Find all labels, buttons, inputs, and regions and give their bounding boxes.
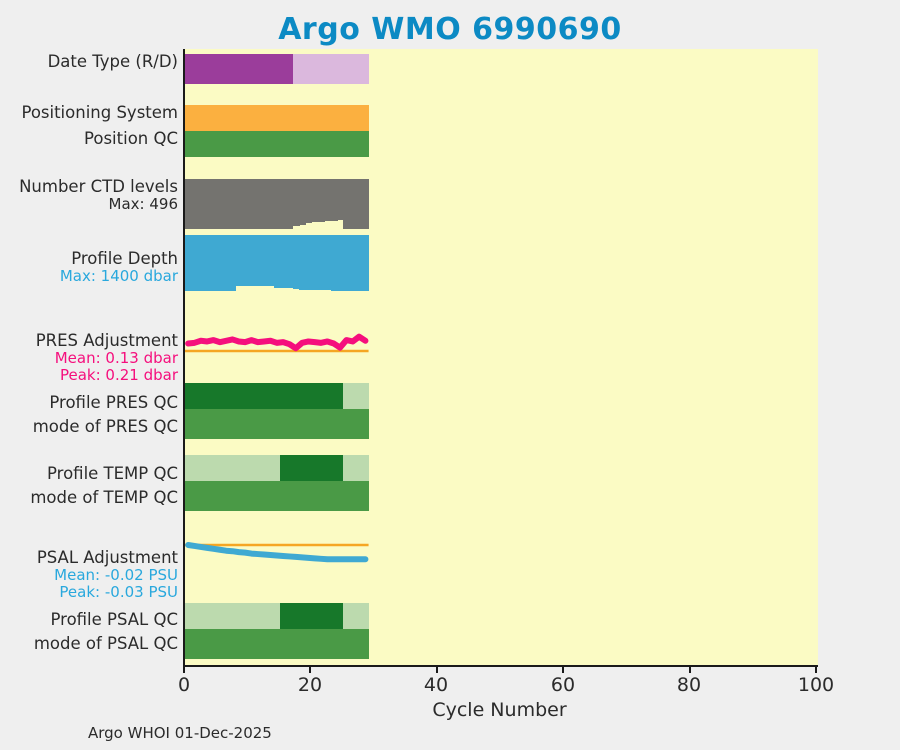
xtick-label-80: 80 <box>654 674 724 696</box>
panel-pres-adjustment <box>185 319 818 361</box>
panel-positioning-system <box>185 105 818 131</box>
segment-1 <box>185 629 369 659</box>
xtick-mark-60 <box>562 665 564 673</box>
line-chart <box>185 319 818 361</box>
ylabel-psal-adj-mean: Mean: -0.02 PSU <box>37 567 178 584</box>
ylabel-mode-psal-qc: mode of PSAL QC <box>34 635 178 653</box>
ylabel-pres-adj-peak: Peak: 0.21 dbar <box>36 367 178 384</box>
ylabel-profile-psal-qc-text: Profile PSAL QC <box>50 610 178 629</box>
panel-mode-of-psal-qc <box>185 629 818 659</box>
xtick-label-0: 0 <box>149 674 219 696</box>
line-chart <box>185 539 818 581</box>
xtick-label-100: 100 <box>781 674 851 696</box>
segment-A <box>280 455 343 481</box>
panel-number-ctd-levels <box>185 179 818 229</box>
ylabel-pres-adj-text: PRES Adjustment <box>36 331 178 350</box>
segment-B <box>343 603 368 629</box>
data-line <box>188 337 365 349</box>
ylabel-mode-pres-qc-text: mode of PRES QC <box>33 417 178 436</box>
segment-B <box>185 603 280 629</box>
panel-mode-of-temp-qc <box>185 481 818 511</box>
panel-position-qc <box>185 131 818 157</box>
ylabel-position-qc: Position QC <box>84 130 178 148</box>
ylabel-position-qc-text: Position QC <box>84 129 178 148</box>
ylabel-pos-system: Positioning System <box>21 104 178 122</box>
segment-B <box>185 455 280 481</box>
ylabel-profile-depth: Profile Depth Max: 1400 dbar <box>60 250 178 285</box>
panel-psal-adjustment <box>185 539 818 581</box>
ylabel-psal-adj-peak: Peak: -0.03 PSU <box>37 584 178 601</box>
ylabel-pres-adj-mean: Mean: 0.13 dbar <box>36 350 178 367</box>
ylabel-profile-psal-qc: Profile PSAL QC <box>50 611 178 629</box>
xtick-label-20: 20 <box>275 674 345 696</box>
bar <box>362 235 369 291</box>
x-axis-label: Cycle Number <box>183 699 816 721</box>
plot-inner <box>185 49 818 665</box>
ylabel-mode-psal-qc-text: mode of PSAL QC <box>34 634 178 653</box>
data-line <box>188 545 365 559</box>
bar <box>362 179 369 229</box>
segment-B <box>343 455 368 481</box>
xtick-mark-0 <box>183 665 185 673</box>
ylabel-profile-temp-qc: Profile TEMP QC <box>47 465 178 483</box>
xtick-mark-40 <box>436 665 438 673</box>
panel-profile-psal-qc <box>185 603 818 629</box>
xtick-label-60: 60 <box>528 674 598 696</box>
ylabel-ctd-levels-max: Max: 496 <box>19 196 178 213</box>
ylabel-psal-adj-text: PSAL Adjustment <box>37 548 178 567</box>
ylabel-profile-depth-text: Profile Depth <box>71 249 178 268</box>
ylabel-ctd-levels-text: Number CTD levels <box>19 177 178 196</box>
page-title: Argo WMO 6990690 <box>0 12 900 47</box>
segment-1 <box>185 131 369 157</box>
xtick-label-40: 40 <box>401 674 471 696</box>
ylabel-profile-pres-qc-text: Profile PRES QC <box>49 393 178 412</box>
segment-D <box>293 54 369 84</box>
ylabel-mode-temp-qc: mode of TEMP QC <box>30 489 178 507</box>
plot-area <box>183 49 818 667</box>
panel-profile-pres-qc <box>185 383 818 409</box>
footer-credit: Argo WHOI 01-Dec-2025 <box>88 724 272 742</box>
panel-profile-temp-qc <box>185 455 818 481</box>
ylabel-profile-depth-max: Max: 1400 dbar <box>60 268 178 285</box>
xtick-mark-80 <box>689 665 691 673</box>
ylabel-pos-system-text: Positioning System <box>21 103 178 122</box>
ylabel-mode-pres-qc: mode of PRES QC <box>33 418 178 436</box>
ylabel-profile-temp-qc-text: Profile TEMP QC <box>47 464 178 483</box>
ylabel-psal-adj: PSAL Adjustment Mean: -0.02 PSU Peak: -0… <box>37 549 178 601</box>
panel-mode-of-pres-qc <box>185 409 818 439</box>
segment-1 <box>185 409 369 439</box>
argo-summary-figure: Argo WMO 6990690 Date Type (R/D) Positio… <box>0 0 900 750</box>
ylabel-date-type: Date Type (R/D) <box>48 53 178 71</box>
ylabel-profile-pres-qc: Profile PRES QC <box>49 394 178 412</box>
segment-B <box>343 383 368 409</box>
segment-A <box>280 603 343 629</box>
ylabel-ctd-levels: Number CTD levels Max: 496 <box>19 178 178 213</box>
ylabel-mode-temp-qc-text: mode of TEMP QC <box>30 488 178 507</box>
segment-R <box>185 54 293 84</box>
segment-A <box>185 383 343 409</box>
xtick-mark-100 <box>815 665 817 673</box>
segment-1 <box>185 481 369 511</box>
panel-date-type-r-d <box>185 54 818 84</box>
segment-GPS <box>185 105 369 131</box>
ylabel-pres-adj: PRES Adjustment Mean: 0.13 dbar Peak: 0.… <box>36 332 178 384</box>
xtick-mark-20 <box>309 665 311 673</box>
ylabel-date-type-text: Date Type (R/D) <box>48 52 178 71</box>
panel-profile-depth <box>185 235 818 291</box>
